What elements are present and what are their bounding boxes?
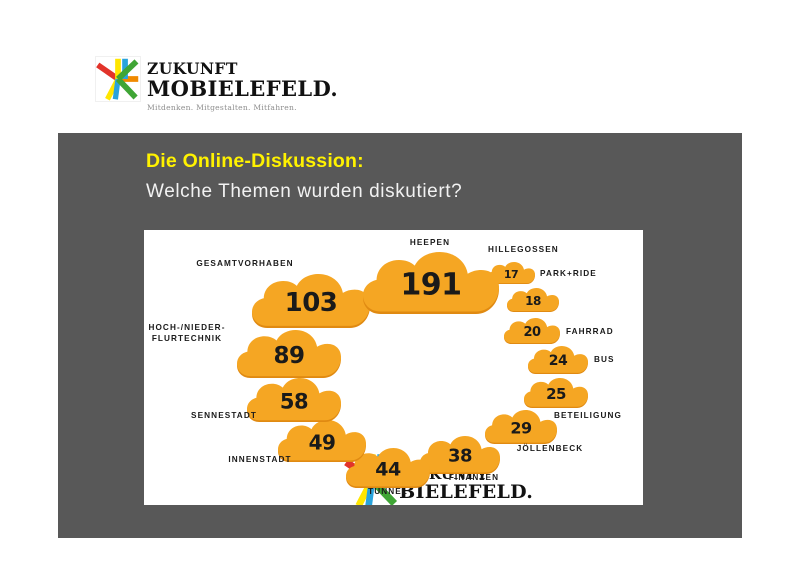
cloud-value: 18 xyxy=(525,295,541,307)
cloud-label-finanzen: FINANZEN xyxy=(434,472,514,483)
cloud-label-innenstadt: INNENSTADT xyxy=(218,454,302,465)
cloud-value: 25 xyxy=(546,387,566,402)
cloud-label-j-llenbeck: JÖLLENBECK xyxy=(506,443,594,454)
cloud-value: 49 xyxy=(309,433,336,453)
brand-wordmark: ZUKUNFT MOBIELEFELD. Mitdenken. Mitgesta… xyxy=(147,61,338,112)
brand-tagline: Mitdenken. Mitgestalten. Mitfahren. xyxy=(147,103,338,112)
cloud-label-hillegossen: HILLEGOSSEN xyxy=(488,244,570,255)
cloud-value: 17 xyxy=(504,268,518,279)
brand-line-mobielefeld: MOBIELEFELD. xyxy=(147,78,338,99)
cloud-label-beteiligung: BETEILIGUNG xyxy=(542,410,634,421)
cloud-beteiligung: 25 xyxy=(524,378,588,408)
cloud-value: 58 xyxy=(280,391,308,412)
cloud-gesamtvorhaben: 103 xyxy=(252,274,370,328)
brand-line-zukunft: ZUKUNFT xyxy=(147,61,338,77)
cloud-label-gesamtvorhaben: GESAMTVORHABEN xyxy=(180,258,310,269)
cloud-label-fahrrad: FAHRRAD xyxy=(566,326,628,337)
cloud-hoch-nieder-flurtechnik: 89 xyxy=(237,330,341,378)
cloud-value: 44 xyxy=(375,460,400,479)
cloud-park-ride: 18 xyxy=(507,288,559,312)
cloud-label-tunnel: TUNNEL xyxy=(348,486,428,497)
page-title: Die Online-Diskussion: xyxy=(146,150,364,173)
cloud-value: 38 xyxy=(448,447,472,465)
cloud-label-bus: BUS xyxy=(594,354,634,365)
cloud-value: 20 xyxy=(523,326,540,339)
wordcloud-chart: ZUKUNFT MOBIELEFELD. Mitdenken. Mitgesta… xyxy=(144,230,643,505)
cloud-label-heepen: HEEPEN xyxy=(390,237,470,248)
cloud-value: 89 xyxy=(273,344,304,367)
cloud-bus: 24 xyxy=(528,346,588,374)
cloud-heepen: 191 xyxy=(363,252,499,314)
cloud-label-hoch-nieder-flurtechnik: HOCH-/NIEDER- FLURTECHNIK xyxy=(144,322,236,344)
page-subtitle: Welche Themen wurden diskutiert? xyxy=(146,181,462,203)
cloud-label-park-ride: PARK+RIDE xyxy=(540,268,610,279)
slide-panel: Die Online-Diskussion: Welche Themen wur… xyxy=(58,133,742,538)
cloud-fahrrad: 20 xyxy=(504,318,560,344)
cloud-finanzen: 38 xyxy=(420,436,500,474)
cloud-value: 103 xyxy=(285,290,338,316)
cloud-value: 191 xyxy=(400,270,461,300)
cloud-value: 29 xyxy=(510,420,531,436)
cloud-value: 24 xyxy=(549,354,567,368)
brand-header: ZUKUNFT MOBIELEFELD. Mitdenken. Mitgesta… xyxy=(96,57,338,112)
zukunft-mobielefeld-logo-icon xyxy=(96,57,140,101)
cloud-label-sennestadt: SENNESTADT xyxy=(182,410,266,421)
